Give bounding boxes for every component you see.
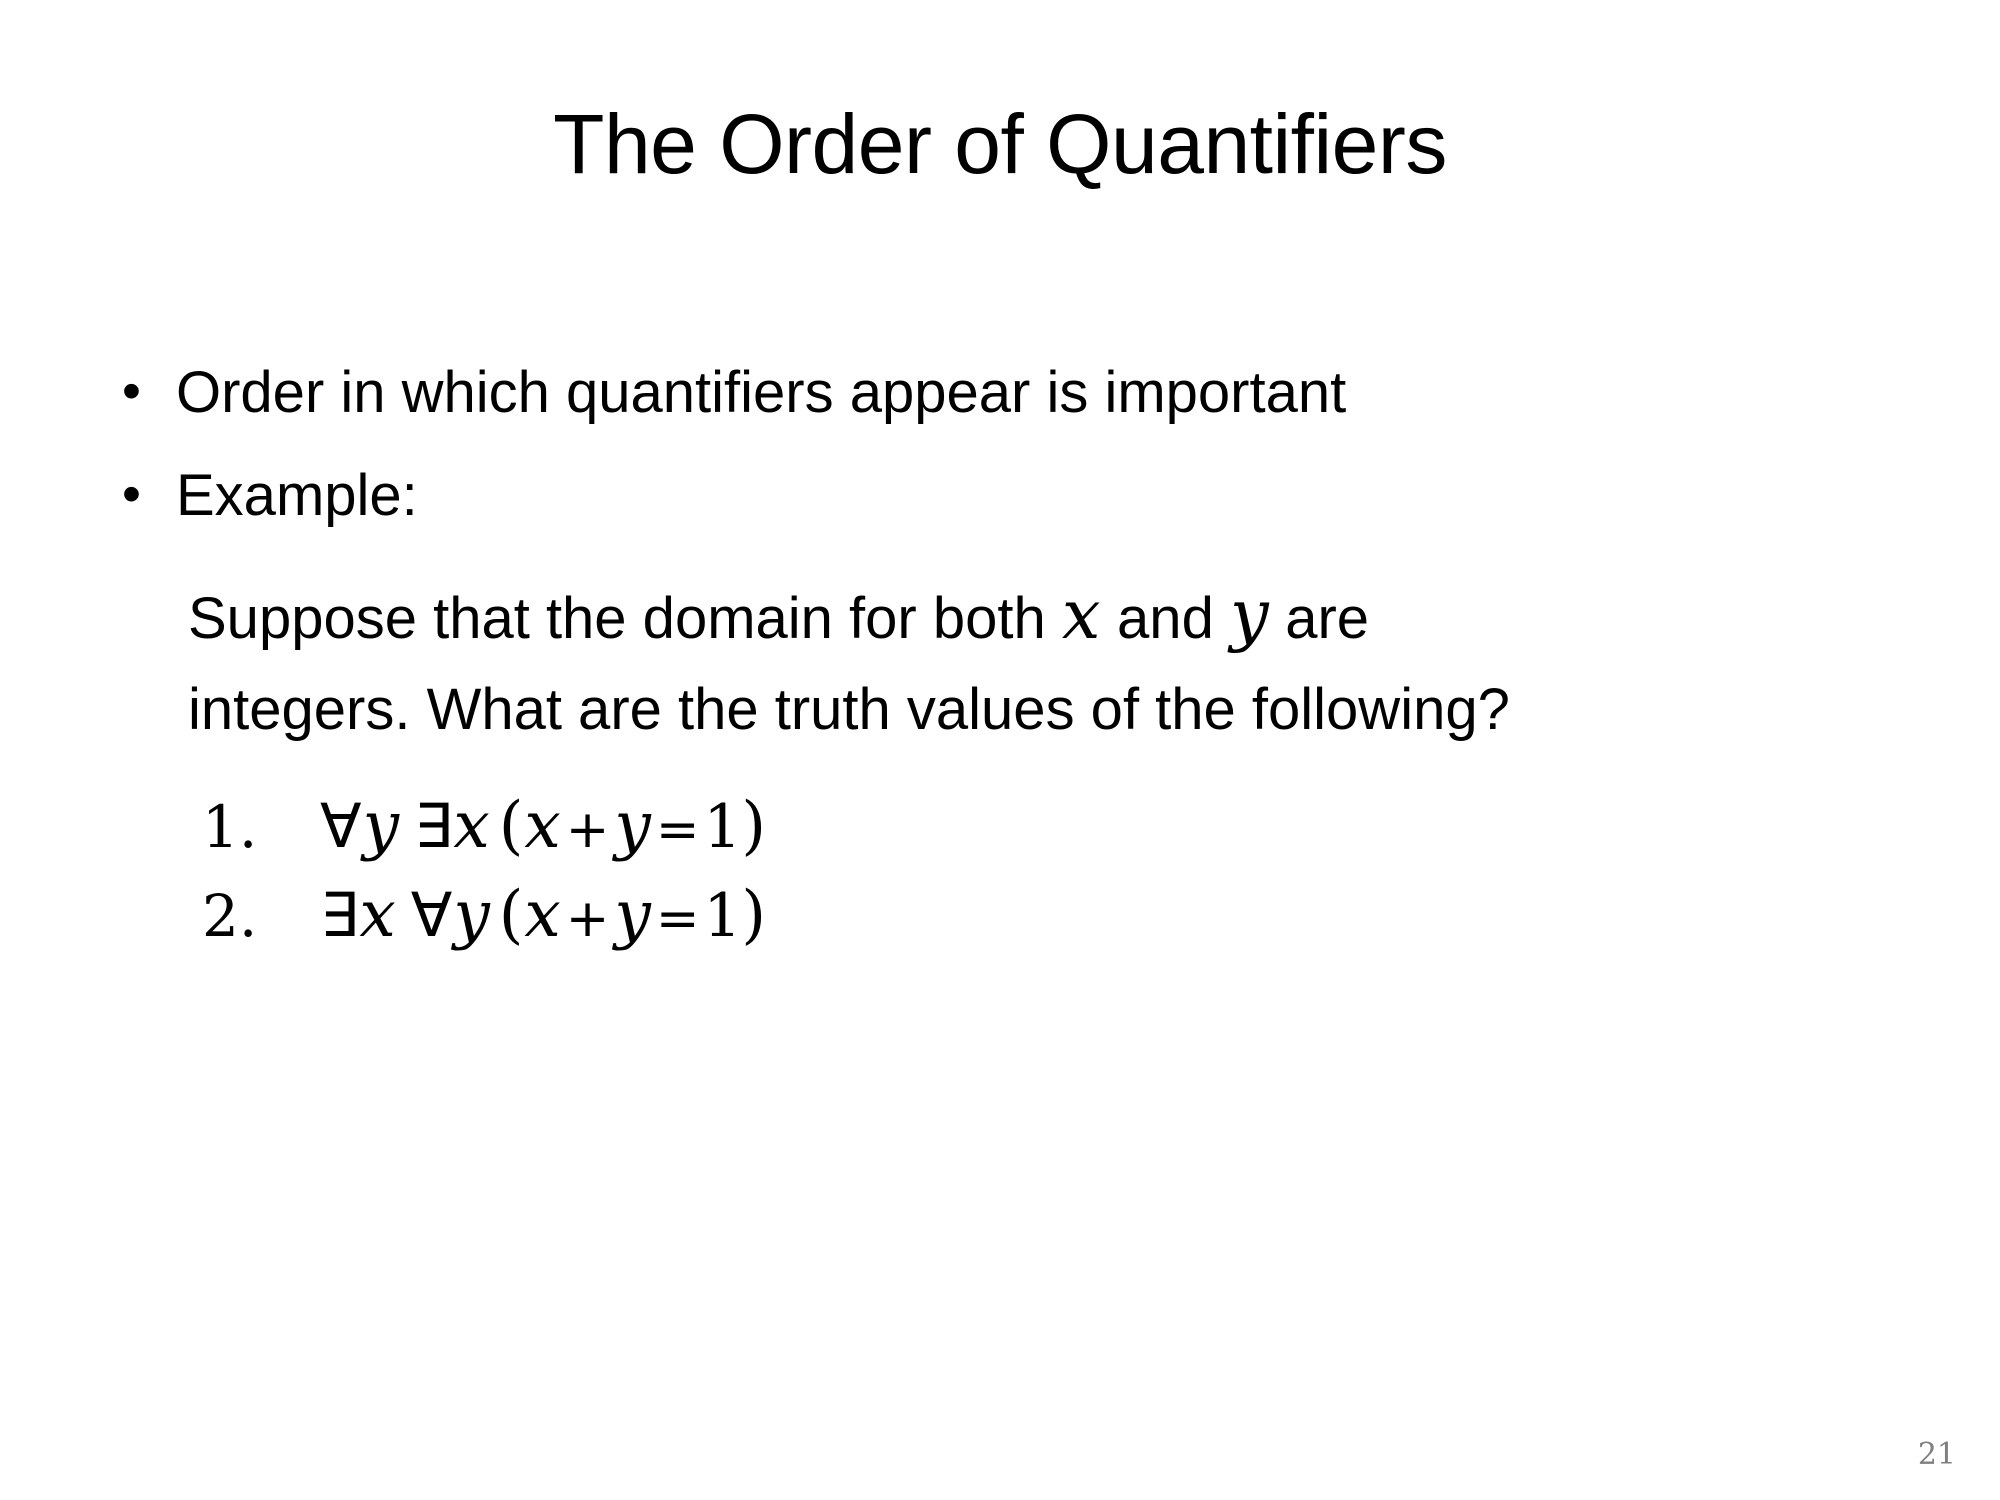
bullet-label: Example:	[176, 463, 418, 530]
close-paren: )	[741, 877, 766, 951]
lhs-variable: x	[523, 877, 561, 952]
list-item: • Order in which quantifiers appear is i…	[110, 360, 1910, 427]
formula-number-1: 1.	[202, 787, 320, 867]
formula-number-2: 2.	[202, 876, 320, 956]
formula-expression-2: ∃x∀y(x+y=1)	[320, 871, 766, 960]
bound-variable-y: y	[452, 877, 490, 952]
example-paragraph: Suppose that the domain for both x and y…	[188, 565, 1568, 752]
page-title: The Order of Quantifiers	[0, 100, 2000, 188]
rhs-variable: y	[613, 877, 651, 952]
equals-operator: =	[652, 889, 704, 949]
open-paren: (	[499, 788, 524, 862]
bound-variable-x: x	[452, 788, 490, 863]
constant-value: 1	[703, 793, 741, 862]
open-paren: (	[499, 877, 524, 951]
lhs-variable: x	[523, 788, 561, 863]
forall-icon: ∀	[411, 881, 453, 951]
slide-body: • Order in which quantifiers appear is i…	[110, 360, 1910, 960]
math-variable-y: y	[1230, 575, 1269, 655]
equals-operator: =	[652, 800, 704, 860]
plus-operator: +	[562, 800, 614, 860]
plus-operator: +	[562, 889, 614, 949]
paragraph-part-1: Suppose that the domain for both	[188, 586, 1062, 651]
math-variable-x: x	[1062, 575, 1101, 655]
constant-value: 1	[703, 882, 741, 951]
bullet-label: Order in which quantifiers appear is imp…	[176, 360, 1346, 427]
formula-expression-1: ∀y∃x(x+y=1)	[320, 782, 766, 871]
formula-row-1: 1. ∀y∃x(x+y=1)	[202, 782, 1910, 871]
rhs-variable: y	[613, 788, 651, 863]
exists-icon: ∃	[320, 881, 358, 951]
bound-variable-y: y	[362, 788, 400, 863]
formula-list: 1. ∀y∃x(x+y=1) 2. ∃x∀y(x+y=1)	[202, 782, 1910, 960]
close-paren: )	[741, 788, 766, 862]
bullet-icon: •	[110, 364, 176, 418]
slide-canvas: The Order of Quantifiers • Order in whic…	[0, 0, 2000, 1500]
list-item: • Example:	[110, 463, 1910, 530]
page-number: 21	[1918, 1437, 1956, 1472]
forall-icon: ∀	[320, 792, 362, 862]
paragraph-part-2: and	[1101, 586, 1230, 651]
bound-variable-x: x	[358, 877, 396, 952]
bullet-icon: •	[110, 467, 176, 521]
formula-row-2: 2. ∃x∀y(x+y=1)	[202, 871, 1910, 960]
exists-icon: ∃	[414, 792, 452, 862]
